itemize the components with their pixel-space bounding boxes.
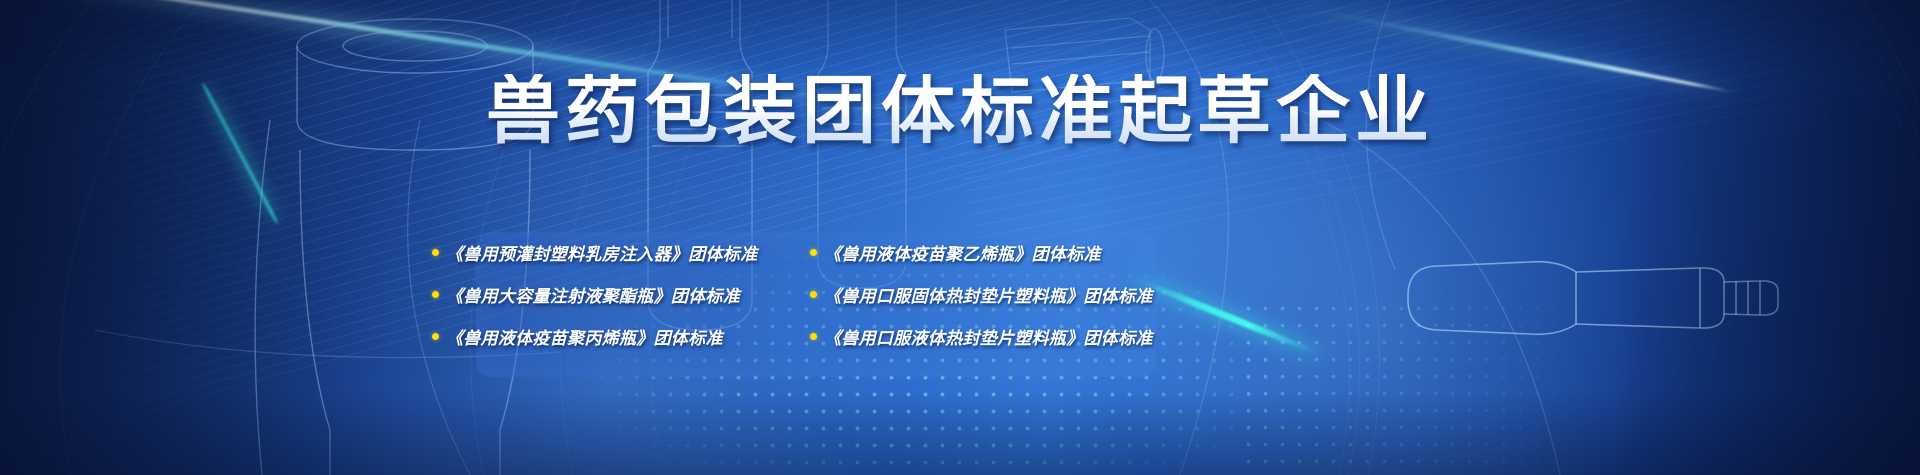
standard-label: 《兽用口服液体热封垫片塑料瓶》团体标准 [824, 324, 1153, 349]
bullet-dot-icon [810, 249, 817, 256]
bullet-dot-icon [432, 291, 439, 298]
standard-label: 《兽用液体疫苗聚丙烯瓶》团体标准 [446, 324, 723, 349]
list-item: 《兽用大容量注射液聚酯瓶》团体标准 [432, 282, 802, 306]
standards-list: 《兽用预灌封塑料乳房注入器》团体标准 《兽用液体疫苗聚乙烯瓶》团体标准 《兽用大… [432, 240, 1492, 348]
list-item: 《兽用液体疫苗聚乙烯瓶》团体标准 [810, 240, 1492, 264]
standard-label: 《兽用大容量注射液聚酯瓶》团体标准 [446, 282, 740, 307]
bullet-dot-icon [810, 291, 817, 298]
standard-label: 《兽用口服固体热封垫片塑料瓶》团体标准 [824, 282, 1153, 307]
promo-banner: 兽药包装团体标准起草企业 《兽用预灌封塑料乳房注入器》团体标准 《兽用液体疫苗聚… [0, 0, 1920, 475]
bullet-dot-icon [432, 333, 439, 340]
standard-label: 《兽用预灌封塑料乳房注入器》团体标准 [446, 240, 757, 265]
list-item: 《兽用液体疫苗聚丙烯瓶》团体标准 [432, 324, 802, 348]
list-item: 《兽用预灌封塑料乳房注入器》团体标准 [432, 240, 802, 264]
list-item: 《兽用口服固体热封垫片塑料瓶》团体标准 [810, 282, 1492, 306]
bullet-dot-icon [432, 249, 439, 256]
page-title: 兽药包装团体标准起草企业 [0, 74, 1920, 148]
bullet-dot-icon [810, 333, 817, 340]
list-item: 《兽用口服液体热封垫片塑料瓶》团体标准 [810, 324, 1492, 348]
standard-label: 《兽用液体疫苗聚乙烯瓶》团体标准 [824, 240, 1101, 265]
